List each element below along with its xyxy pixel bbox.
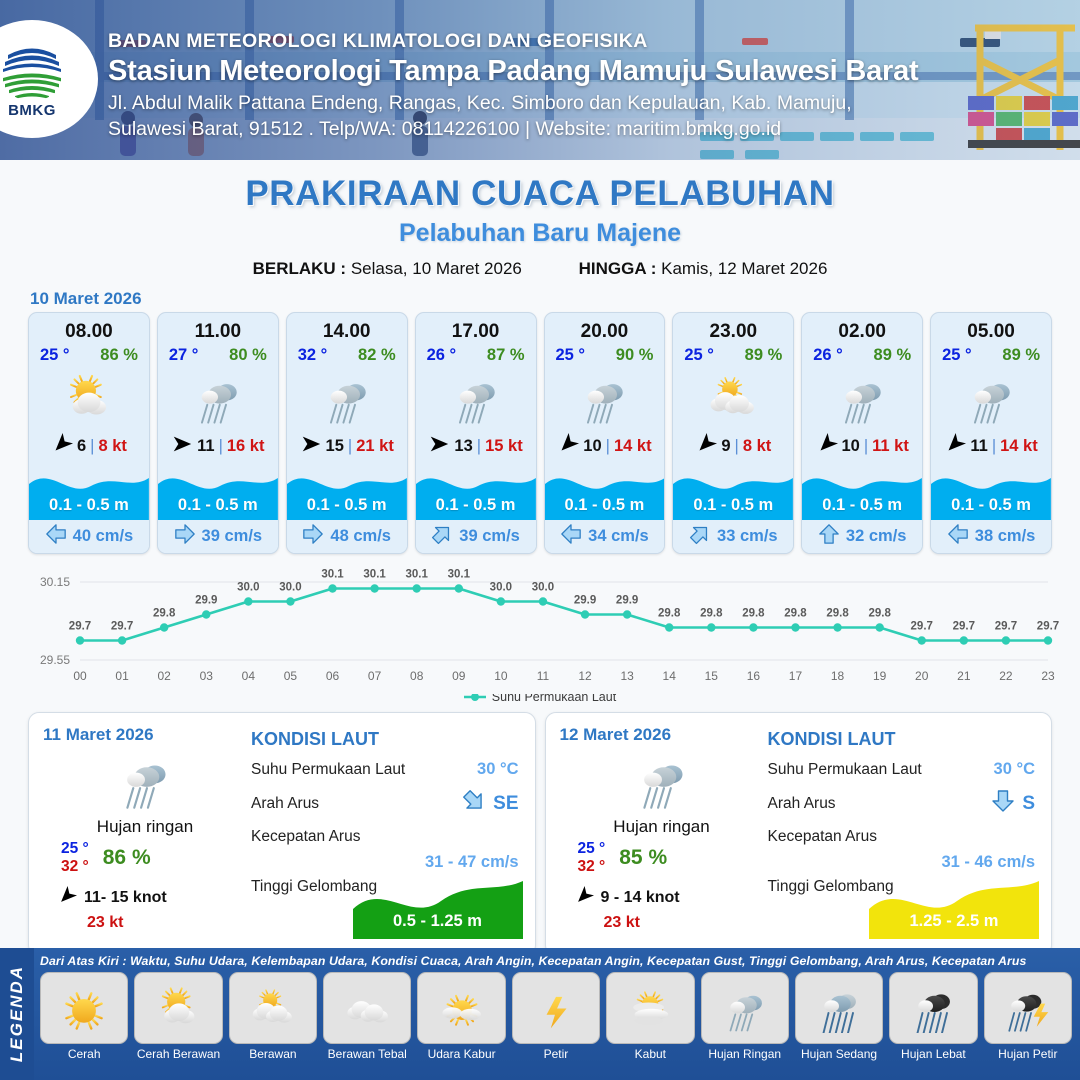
card-temperature: 27 ° [169,346,199,365]
current-direction-icon [818,523,840,550]
hujan-ringan-icon [560,747,764,813]
berlaku-value: Selasa, 10 Maret 2026 [351,259,522,278]
legend-item-label: Udara Kabur [417,1047,505,1061]
legend-item: Hujan Ringan [701,972,789,1061]
wave-height: 0.1 - 0.5 m [673,496,793,515]
forecast-card: 08.00 25 ° 86 % 6 | 8 kt 0.1 - 0.5 m 40 … [28,312,150,554]
card-temperature: 25 ° [684,346,714,365]
hujan-petir-icon [984,972,1072,1044]
hujan-ringan-icon [416,367,536,429]
legend-item: Cerah [40,972,128,1061]
svg-text:29.8: 29.8 [868,608,891,620]
wind-separator: | [606,437,610,456]
hujan-sedang-icon [795,972,883,1044]
wind-direction-icon [557,433,579,460]
svg-text:30.0: 30.0 [532,582,554,594]
current-direction-icon [947,523,969,550]
current-speed: 34 cm/s [588,527,649,546]
legend-item: Hujan Lebat [889,972,977,1061]
wind-speed: 10 [842,437,860,456]
card-wave: 0.1 - 0.5 m [416,464,536,520]
panel-temperatures: 25 ° 32 ° [61,840,89,877]
card-humidity: 87 % [487,346,525,365]
svg-text:29.8: 29.8 [700,608,723,620]
current-speed: 33 cm/s [717,527,778,546]
hujan-ringan-icon [802,367,922,429]
address-line-2: Sulawesi Barat, 91512 . Telp/WA: 0811422… [108,117,1070,143]
wind-speed: 6 [77,437,86,456]
cerah-berawan-icon [29,367,149,429]
card-wind: 10 | 14 kt [545,429,665,463]
panel-date: 12 Maret 2026 [560,725,764,745]
berawan-icon [673,367,793,429]
wind-gust: 15 kt [485,437,523,456]
temp-max: 32 ° [578,858,606,876]
wave-height: 0.1 - 0.5 m [158,496,278,515]
card-current: 34 cm/s [545,520,665,553]
panel-date: 11 Maret 2026 [43,725,247,745]
sea-conditions-title: KONDISI LAUT [768,729,1036,750]
forecast-card: 02.00 26 ° 89 % 10 | 11 kt 0.1 - 0.5 m 3… [801,312,923,554]
svg-text:29.55: 29.55 [40,653,70,667]
card-current: 33 cm/s [673,520,793,553]
wind-speed: 15 [326,437,344,456]
card-time: 17.00 [416,313,536,343]
svg-text:29.9: 29.9 [195,595,217,607]
wind-speed: 13 [454,437,472,456]
wind-direction-icon [944,433,966,460]
svg-text:30.1: 30.1 [448,569,471,581]
card-time: 02.00 [802,313,922,343]
current-speed: 48 cm/s [330,527,391,546]
svg-text:03: 03 [200,669,214,683]
hujan-ringan-icon [43,747,247,813]
wind-direction-icon [816,433,838,460]
sst-label: Suhu Permukaan Laut [251,761,405,779]
berawan-icon [229,972,317,1044]
svg-text:29.8: 29.8 [153,608,176,620]
card-time: 11.00 [158,313,278,343]
sst-value: 30 °C [994,760,1035,779]
legend-item: Hujan Sedang [795,972,883,1061]
card-wave: 0.1 - 0.5 m [802,464,922,520]
forecast-card: 05.00 25 ° 89 % 11 | 14 kt 0.1 - 0.5 m 3… [930,312,1052,554]
current-direction-value: S [1022,793,1035,815]
svg-text:19: 19 [873,669,887,683]
card-humidity: 86 % [100,346,138,365]
svg-text:07: 07 [368,669,382,683]
panel-wind: 9 - 14 knot [560,886,764,911]
wind-direction-icon [51,433,73,460]
hujan-lebat-icon [889,972,977,1044]
card-humidity: 89 % [1002,346,1040,365]
legend-item: Hujan Petir [984,972,1072,1061]
svg-text:29.8: 29.8 [658,608,681,620]
card-wind: 15 | 21 kt [287,429,407,463]
svg-text:22: 22 [999,669,1013,683]
cerah-berawan-icon [134,972,222,1044]
card-time: 14.00 [287,313,407,343]
svg-text:29.8: 29.8 [826,608,849,620]
wind-gust: 14 kt [614,437,652,456]
page-title: PRAKIRAAN CUACA PELABUHAN [0,174,1080,214]
svg-text:04: 04 [242,669,256,683]
current-direction-icon [302,523,324,550]
wind-speed: 10 [583,437,601,456]
card-temperature: 25 ° [556,346,586,365]
svg-text:21: 21 [957,669,971,683]
current-speed: 40 cm/s [73,527,134,546]
svg-text:29.9: 29.9 [574,595,596,607]
panel-condition: Hujan ringan [560,817,764,837]
hujan-ringan-icon [701,972,789,1044]
current-direction-icon [174,523,196,550]
legend-item: Berawan [229,972,317,1061]
legend-item-label: Cerah [40,1047,128,1061]
card-time: 20.00 [545,313,665,343]
svg-text:10: 10 [494,669,508,683]
wind-speed: 9 [721,437,730,456]
svg-text:02: 02 [157,669,171,683]
svg-text:29.7: 29.7 [911,621,933,633]
card-wave: 0.1 - 0.5 m [673,464,793,520]
wave-height-value: 0.5 - 1.25 m [353,912,523,931]
legend-item-label: Berawan [229,1047,317,1061]
legend-item: Udara Kabur [417,972,505,1061]
svg-text:30.1: 30.1 [406,569,429,581]
wind-gust: 11 kt [872,437,909,456]
card-wind: 10 | 11 kt [802,429,922,463]
cerah-icon [40,972,128,1044]
card-current: 39 cm/s [158,520,278,553]
hujan-ringan-icon [545,367,665,429]
header-banner: BMKG BADAN METEOROLOGI KLIMATOLOGI DAN G… [0,0,1080,160]
wind-range: 9 - 14 knot [601,889,680,907]
card-temperature: 26 ° [427,346,457,365]
card-wave: 0.1 - 0.5 m [29,464,149,520]
wind-separator: | [348,437,352,456]
panel-gust: 23 kt [560,914,764,932]
svg-text:00: 00 [73,669,87,683]
forecast-day-label: 10 Maret 2026 [30,289,1080,309]
svg-text:09: 09 [452,669,466,683]
current-direction-label: Arah Arus [768,795,836,813]
svg-text:30.0: 30.0 [490,582,512,594]
svg-text:29.9: 29.9 [616,595,638,607]
panel-wave: 1.25 - 2.5 m [869,875,1039,939]
card-wave: 0.1 - 0.5 m [158,464,278,520]
hingga-value: Kamis, 12 Maret 2026 [661,259,827,278]
legend-item: Kabut [606,972,694,1061]
daily-summary-panel: 11 Maret 2026 Hujan ringan 25 ° 32 ° 86 … [28,712,536,956]
wind-gust: 16 kt [227,437,265,456]
sst-label: Suhu Permukaan Laut [768,761,922,779]
legend-item-label: Hujan Sedang [795,1047,883,1061]
current-direction-value: SE [493,793,518,815]
svg-text:05: 05 [284,669,298,683]
wind-gust: 8 kt [98,437,126,456]
wind-separator: | [735,437,739,456]
wind-gust: 21 kt [356,437,394,456]
card-humidity: 89 % [745,346,783,365]
wave-height: 0.1 - 0.5 m [931,496,1051,515]
svg-text:13: 13 [620,669,634,683]
card-current: 48 cm/s [287,520,407,553]
wave-height: 0.1 - 0.5 m [29,496,149,515]
svg-text:06: 06 [326,669,340,683]
svg-text:08: 08 [410,669,424,683]
svg-text:29.7: 29.7 [953,621,975,633]
wind-direction-icon [428,433,450,460]
wave-height: 0.1 - 0.5 m [802,496,922,515]
svg-text:29.7: 29.7 [1037,621,1059,633]
forecast-card-row: 08.00 25 ° 86 % 6 | 8 kt 0.1 - 0.5 m 40 … [0,312,1080,554]
hingga-label: HINGGA : [579,259,657,278]
card-current: 32 cm/s [802,520,922,553]
svg-text:01: 01 [115,669,129,683]
berlaku-label: BERLAKU : [253,259,347,278]
svg-text:20: 20 [915,669,929,683]
card-wind: 11 | 14 kt [931,429,1051,463]
sst-chart: 30.1529.5529.70029.70129.80229.90330.004… [18,564,1062,694]
forecast-card: 17.00 26 ° 87 % 13 | 15 kt 0.1 - 0.5 m 3… [415,312,537,554]
legend-item: Petir [512,972,600,1061]
wind-separator: | [219,437,223,456]
svg-text:18: 18 [831,669,845,683]
card-wave: 0.1 - 0.5 m [287,464,407,520]
svg-text:12: 12 [578,669,592,683]
panel-condition: Hujan ringan [43,817,247,837]
forecast-card: 14.00 32 ° 82 % 15 | 21 kt 0.1 - 0.5 m 4… [286,312,408,554]
wind-direction-icon [695,433,717,460]
current-direction-icon [45,523,67,550]
port-name: Pelabuhan Baru Majene [0,219,1080,248]
hujan-ringan-icon [287,367,407,429]
wave-height: 0.1 - 0.5 m [416,496,536,515]
petir-icon [512,972,600,1044]
card-time: 08.00 [29,313,149,343]
daily-summary-row: 11 Maret 2026 Hujan ringan 25 ° 32 ° 86 … [0,704,1080,956]
current-direction-icon [431,523,453,550]
svg-text:29.7: 29.7 [111,621,133,633]
hujan-ringan-icon [931,367,1051,429]
card-wave: 0.1 - 0.5 m [545,464,665,520]
svg-text:29.8: 29.8 [742,608,765,620]
legend-item-label: Cerah Berawan [134,1047,222,1061]
current-speed: 39 cm/s [459,527,520,546]
legend-side-label: LEGENDA [0,948,34,1080]
wind-direction-icon [300,433,322,460]
card-temperature: 25 ° [942,346,972,365]
current-direction-icon [689,523,711,550]
wind-separator: | [477,437,481,456]
card-humidity: 82 % [358,346,396,365]
card-current: 38 cm/s [931,520,1051,553]
legend-item-label: Berawan Tebal [323,1047,411,1061]
wind-direction-icon [57,886,77,911]
card-humidity: 89 % [874,346,912,365]
card-wave: 0.1 - 0.5 m [931,464,1051,520]
card-wind: 13 | 15 kt [416,429,536,463]
svg-text:11: 11 [537,669,550,683]
legend-item-label: Hujan Lebat [889,1047,977,1061]
wave-height: 0.1 - 0.5 m [545,496,665,515]
card-temperature: 26 ° [813,346,843,365]
current-speed: 32 cm/s [846,527,907,546]
svg-text:29.7: 29.7 [995,621,1017,633]
svg-text:30.0: 30.0 [279,582,301,594]
current-direction-icon [991,789,1015,818]
wind-separator: | [90,437,94,456]
title-section: PRAKIRAAN CUACA PELABUHAN Pelabuhan Baru… [0,160,1080,279]
card-humidity: 90 % [616,346,654,365]
sst-value: 30 °C [477,760,518,779]
wind-gust: 14 kt [1000,437,1038,456]
current-direction-icon [560,523,582,550]
legend-item: Berawan Tebal [323,972,411,1061]
card-time: 23.00 [673,313,793,343]
berawan-tebal-icon [323,972,411,1044]
svg-text:17: 17 [789,669,803,683]
legend-item-label: Hujan Petir [984,1047,1072,1061]
current-speed-label: Kecepatan Arus [251,828,360,846]
panel-humidity: 85 % [619,846,667,870]
current-speed-value: 31 - 46 cm/s [768,853,1036,872]
wind-direction-icon [574,886,594,911]
legend-note: Dari Atas Kiri : Waktu, Suhu Udara, Kele… [40,954,1072,968]
svg-text:30.0: 30.0 [237,582,259,594]
wind-speed: 11 [197,437,214,456]
bmkg-logo-text: BMKG [0,102,72,119]
card-wind: 11 | 16 kt [158,429,278,463]
wave-height: 0.1 - 0.5 m [287,496,407,515]
wave-height-value: 1.25 - 2.5 m [869,912,1039,931]
svg-text:30.15: 30.15 [40,575,70,589]
wind-speed: 11 [970,437,987,456]
wind-range: 11- 15 knot [84,889,167,907]
panel-gust: 23 kt [43,914,247,932]
svg-text:30.1: 30.1 [363,569,386,581]
panel-humidity: 86 % [103,846,151,870]
validity-row: BERLAKU : Selasa, 10 Maret 2026 HINGGA :… [0,259,1080,279]
card-humidity: 80 % [229,346,267,365]
header-text-block: BADAN METEOROLOGI KLIMATOLOGI DAN GEOFIS… [108,30,1070,142]
svg-text:14: 14 [663,669,677,683]
svg-text:16: 16 [747,669,761,683]
svg-text:29.7: 29.7 [69,621,91,633]
svg-text:23: 23 [1041,669,1055,683]
address-line-1: Jl. Abdul Malik Pattana Endeng, Rangas, … [108,91,1070,117]
current-speed-value: 31 - 47 cm/s [251,853,519,872]
legend-bar: LEGENDA Dari Atas Kiri : Waktu, Suhu Uda… [0,948,1080,1080]
current-speed: 39 cm/s [202,527,263,546]
svg-text:29.8: 29.8 [784,608,807,620]
card-temperature: 25 ° [40,346,70,365]
panel-wind: 11- 15 knot [43,886,247,911]
forecast-card: 20.00 25 ° 90 % 10 | 14 kt 0.1 - 0.5 m 3… [544,312,666,554]
current-direction-icon [462,789,486,818]
agency-name: BADAN METEOROLOGI KLIMATOLOGI DAN GEOFIS… [108,30,1070,53]
bmkg-logo-mark [0,39,66,101]
legend-item-label: Petir [512,1047,600,1061]
svg-text:30.1: 30.1 [321,569,344,581]
forecast-card: 11.00 27 ° 80 % 11 | 16 kt 0.1 - 0.5 m 3… [157,312,279,554]
temp-min: 25 ° [61,840,89,858]
forecast-card: 23.00 25 ° 89 % 9 | 8 kt 0.1 - 0.5 m 33 … [672,312,794,554]
wind-separator: | [864,437,868,456]
wind-gust: 8 kt [743,437,771,456]
temp-min: 25 ° [578,840,606,858]
svg-text:15: 15 [705,669,719,683]
card-wind: 9 | 8 kt [673,429,793,463]
card-temperature: 32 ° [298,346,328,365]
card-current: 39 cm/s [416,520,536,553]
kabut-icon [606,972,694,1044]
legend-item-label: Kabut [606,1047,694,1061]
legend-item-list: Cerah Cerah Berawan Berawan Berawan Teba… [40,972,1072,1061]
current-speed-label: Kecepatan Arus [768,828,877,846]
wind-direction-icon [171,433,193,460]
panel-temperatures: 25 ° 32 ° [578,840,606,877]
udara-kabur-icon [417,972,505,1044]
station-name: Stasiun Meteorologi Tampa Padang Mamuju … [108,55,1070,88]
temp-max: 32 ° [61,858,89,876]
current-speed: 38 cm/s [975,527,1036,546]
panel-wave: 0.5 - 1.25 m [353,875,523,939]
legend-item: Cerah Berawan [134,972,222,1061]
card-current: 40 cm/s [29,520,149,553]
wind-separator: | [992,437,996,456]
card-time: 05.00 [931,313,1051,343]
hujan-ringan-icon [158,367,278,429]
card-wind: 6 | 8 kt [29,429,149,463]
daily-summary-panel: 12 Maret 2026 Hujan ringan 25 ° 32 ° 85 … [545,712,1053,956]
legend-item-label: Hujan Ringan [701,1047,789,1061]
sea-conditions-title: KONDISI LAUT [251,729,519,750]
current-direction-label: Arah Arus [251,795,319,813]
